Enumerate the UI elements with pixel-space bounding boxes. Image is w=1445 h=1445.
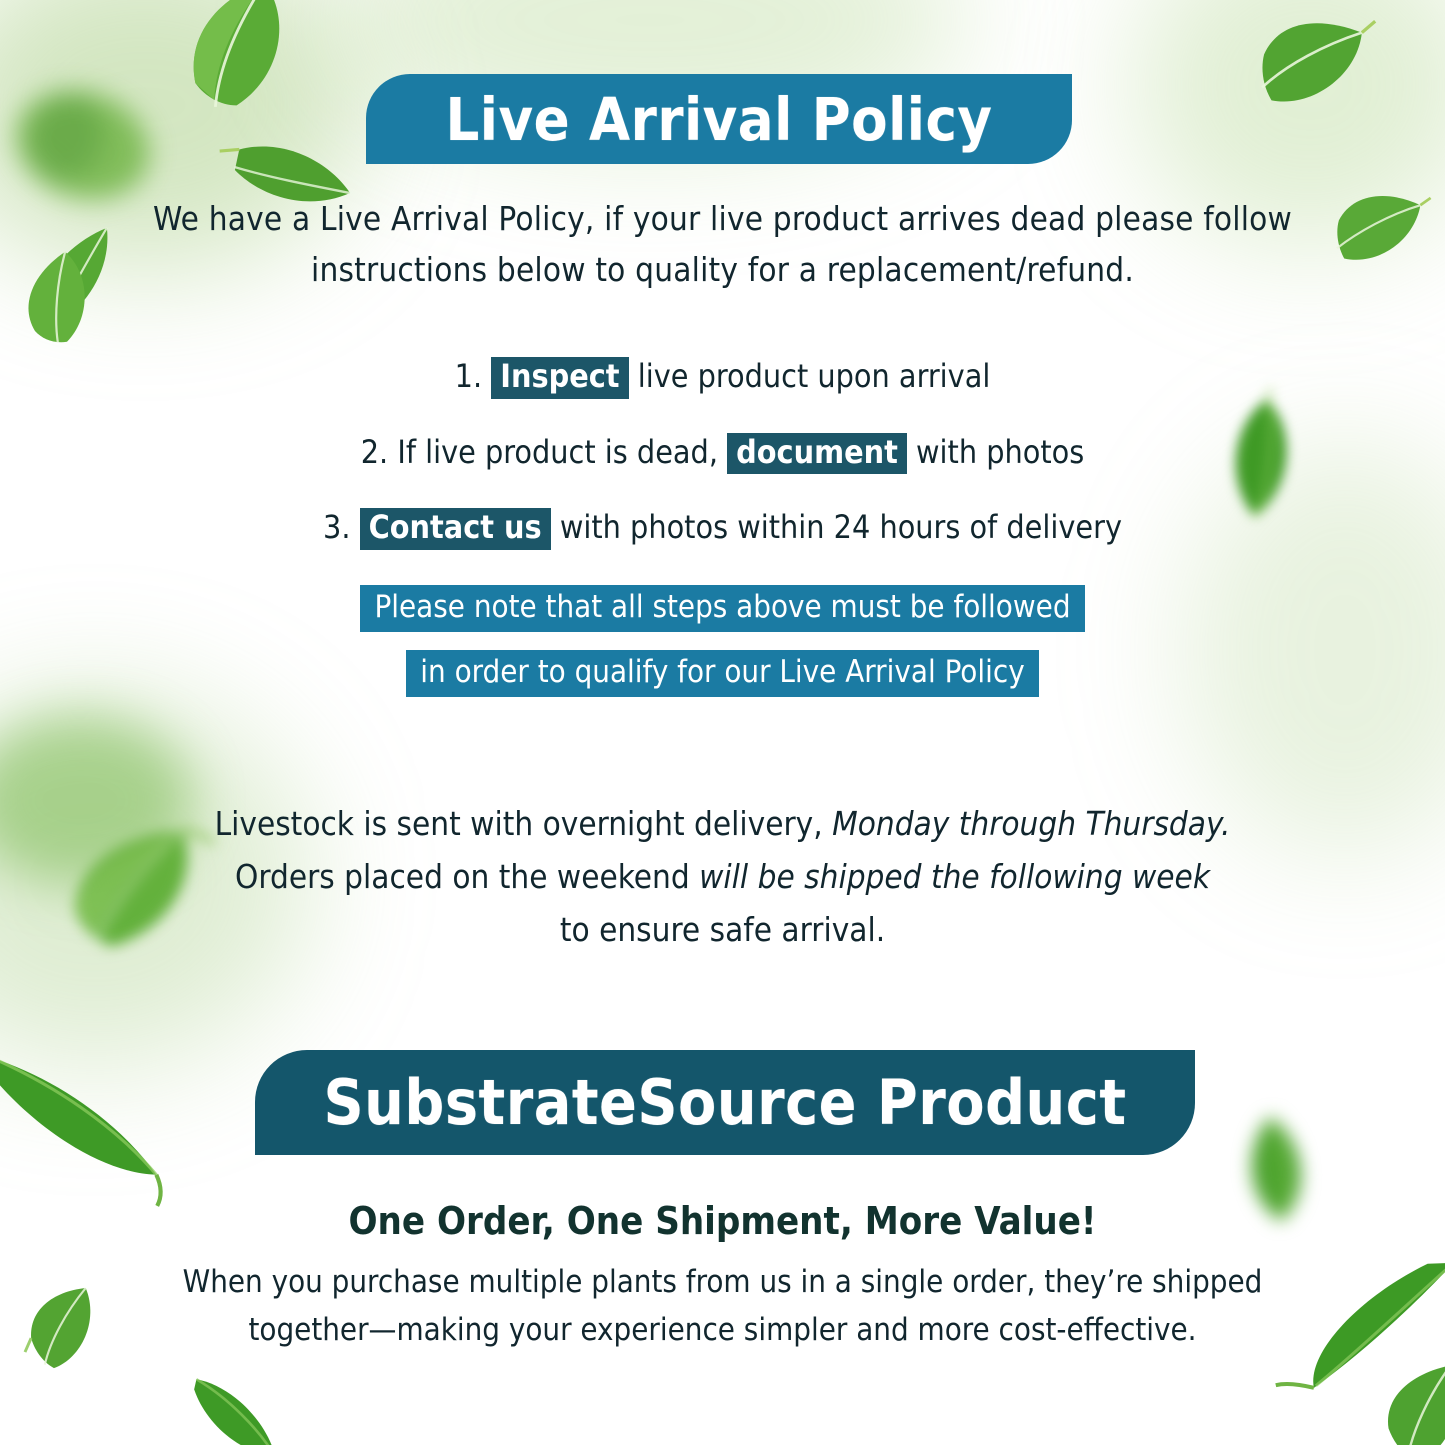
step-highlight-contact-us[interactable]: Contact us [360, 508, 551, 550]
value-line-1: When you purchase multiple plants from u… [0, 1258, 1445, 1306]
policy-note: Please note that all steps above must be… [0, 583, 1445, 713]
shipping-line-1-plain: Livestock is sent with overnight deliver… [215, 804, 823, 843]
note-line-2: in order to qualify for our Live Arrival… [406, 650, 1038, 697]
step-highlight-document: document [727, 433, 907, 475]
shipping-line-1: Livestock is sent with overnight deliver… [0, 798, 1445, 851]
step-number: 3. [323, 508, 350, 546]
product-banner-title: SubstrateSource Product [324, 1066, 1127, 1139]
page-title: Live Arrival Policy [445, 85, 992, 154]
step-text: with photos within 24 hours of delivery [560, 508, 1122, 546]
step-text: live product upon arrival [638, 357, 991, 395]
value-paragraph: When you purchase multiple plants from u… [0, 1258, 1445, 1354]
step-item: 2. If live product is dead, document wit… [0, 428, 1445, 478]
poster-content: Live Arrival Policy We have a Live Arriv… [0, 0, 1445, 1445]
step-item: 1. Inspect live product upon arrival [0, 352, 1445, 402]
value-line-2: together—making your experience simpler … [0, 1306, 1445, 1354]
intro-paragraph: We have a Live Arrival Policy, if your l… [0, 193, 1445, 295]
note-line-2-wrap: in order to qualify for our Live Arrival… [0, 648, 1445, 697]
shipping-line-1-italic: Monday through Thursday. [832, 804, 1230, 843]
value-subheading: One Order, One Shipment, More Value! [0, 1192, 1445, 1251]
step-text: with photos [916, 433, 1084, 471]
step-number: 1. [455, 357, 482, 395]
note-line-1: Please note that all steps above must be… [360, 585, 1084, 632]
shipping-line-2-plain: Orders placed on the weekend [235, 857, 690, 896]
shipping-line-3: to ensure safe arrival. [0, 904, 1445, 957]
substratesource-product-banner: SubstrateSource Product [255, 1050, 1195, 1155]
step-text-before: If live product is dead, [397, 433, 718, 471]
note-line-1-wrap: Please note that all steps above must be… [0, 583, 1445, 632]
poster-canvas: Live Arrival Policy We have a Live Arriv… [0, 0, 1445, 1445]
live-arrival-policy-banner: Live Arrival Policy [366, 74, 1072, 164]
intro-line-2: instructions below to quality for a repl… [0, 244, 1445, 295]
step-number: 2. [361, 433, 388, 471]
intro-line-1: We have a Live Arrival Policy, if your l… [0, 193, 1445, 244]
shipping-line-2-italic: will be shipped the following week [699, 857, 1210, 896]
steps-list: 1. Inspect live product upon arrival 2. … [0, 352, 1445, 579]
shipping-paragraph: Livestock is sent with overnight deliver… [0, 798, 1445, 956]
step-highlight-inspect: Inspect [491, 357, 628, 399]
shipping-line-2: Orders placed on the weekend will be shi… [0, 851, 1445, 904]
step-item: 3. Contact us with photos within 24 hour… [0, 503, 1445, 553]
